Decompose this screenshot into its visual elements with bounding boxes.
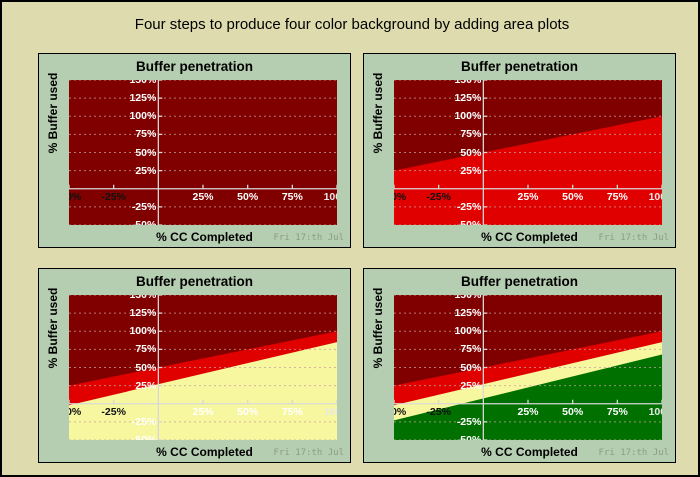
chart-panel-2[interactable]: Buffer penetration % Buffer used 150%125… bbox=[363, 53, 676, 248]
plot-area: 150%125%100%75%50%25%-25%-50%-50%-25%25%… bbox=[69, 80, 337, 225]
x-tick-label: -25% bbox=[101, 406, 126, 418]
y-tick-label: -50% bbox=[69, 434, 156, 440]
x-tick-label: -50% bbox=[69, 406, 81, 418]
y-tick-label: 150% bbox=[394, 80, 481, 86]
y-tick-label: 25% bbox=[394, 380, 481, 392]
y-axis-label: % Buffer used bbox=[371, 53, 385, 173]
y-tick-label: 100% bbox=[69, 325, 156, 337]
y-tick-label: 50% bbox=[69, 147, 156, 159]
y-tick-label: 25% bbox=[394, 165, 481, 177]
y-tick-label: 125% bbox=[394, 307, 481, 319]
x-tick-label: 25% bbox=[517, 406, 538, 418]
x-tick-label: -50% bbox=[69, 191, 81, 203]
y-axis-label: % Buffer used bbox=[46, 268, 60, 388]
panel-title: Buffer penetration bbox=[364, 274, 675, 289]
x-tick-label: 50% bbox=[237, 191, 258, 203]
date-stamp: Fri 17:th Jul bbox=[599, 233, 669, 243]
y-tick-label: 125% bbox=[394, 92, 481, 104]
x-tick-label: 100% bbox=[649, 191, 662, 203]
y-tick-label: 150% bbox=[69, 295, 156, 301]
figure-root: Four steps to produce four color backgro… bbox=[0, 0, 700, 477]
x-tick-label: -50% bbox=[394, 191, 406, 203]
panel-title: Buffer penetration bbox=[39, 274, 350, 289]
y-tick-label: 75% bbox=[69, 128, 156, 140]
y-tick-label: -50% bbox=[394, 219, 481, 225]
plot-area: 150%125%100%75%50%25%-25%-50%-50%-25%25%… bbox=[69, 295, 337, 440]
chart-panel-1[interactable]: Buffer penetration % Buffer used 150%125… bbox=[38, 53, 351, 248]
y-tick-label: 100% bbox=[69, 110, 156, 122]
x-tick-label: 75% bbox=[607, 406, 628, 418]
y-tick-label: 75% bbox=[69, 343, 156, 355]
panel-title: Buffer penetration bbox=[39, 59, 350, 74]
y-tick-label: 75% bbox=[394, 343, 481, 355]
panel-title: Buffer penetration bbox=[364, 59, 675, 74]
y-tick-label: 150% bbox=[394, 295, 481, 301]
x-tick-label: -50% bbox=[394, 406, 406, 418]
x-tick-label: -25% bbox=[101, 191, 126, 203]
y-axis-label: % Buffer used bbox=[46, 53, 60, 173]
y-tick-label: 125% bbox=[69, 307, 156, 319]
y-tick-label: 50% bbox=[394, 147, 481, 159]
y-tick-label: 100% bbox=[394, 325, 481, 337]
y-tick-label: 100% bbox=[394, 110, 481, 122]
y-tick-label: 50% bbox=[394, 362, 481, 374]
date-stamp: Fri 17:th Jul bbox=[599, 448, 669, 458]
y-tick-label: 25% bbox=[69, 380, 156, 392]
x-tick-label: 50% bbox=[562, 191, 583, 203]
x-tick-label: 75% bbox=[282, 191, 303, 203]
plot-area: 150%125%100%75%50%25%-25%-50%-50%-25%25%… bbox=[394, 80, 662, 225]
x-tick-label: 50% bbox=[237, 406, 258, 418]
y-axis-label: % Buffer used bbox=[371, 268, 385, 388]
y-tick-label: 125% bbox=[69, 92, 156, 104]
y-tick-label: -50% bbox=[394, 434, 481, 440]
x-tick-label: -25% bbox=[426, 406, 451, 418]
x-tick-label: 25% bbox=[517, 191, 538, 203]
x-tick-label: -25% bbox=[426, 191, 451, 203]
y-tick-label: 150% bbox=[69, 80, 156, 86]
x-tick-label: 100% bbox=[324, 406, 337, 418]
y-tick-label: 25% bbox=[69, 165, 156, 177]
plot-area: 150%125%100%75%50%25%-25%-50%-50%-25%25%… bbox=[394, 295, 662, 440]
date-stamp: Fri 17:th Jul bbox=[274, 448, 344, 458]
date-stamp: Fri 17:th Jul bbox=[274, 233, 344, 243]
x-tick-label: 75% bbox=[607, 191, 628, 203]
chart-panel-4[interactable]: Buffer penetration % Buffer used 150%125… bbox=[363, 268, 676, 463]
chart-panel-3[interactable]: Buffer penetration % Buffer used 150%125… bbox=[38, 268, 351, 463]
page-title: Four steps to produce four color backgro… bbox=[2, 16, 700, 33]
y-tick-label: 75% bbox=[394, 128, 481, 140]
x-tick-label: 100% bbox=[649, 406, 662, 418]
x-tick-label: 25% bbox=[192, 406, 213, 418]
y-tick-label: -50% bbox=[69, 219, 156, 225]
y-tick-label: 50% bbox=[69, 362, 156, 374]
x-tick-label: 100% bbox=[324, 191, 337, 203]
x-tick-label: 25% bbox=[192, 191, 213, 203]
x-tick-label: 50% bbox=[562, 406, 583, 418]
x-tick-label: 75% bbox=[282, 406, 303, 418]
